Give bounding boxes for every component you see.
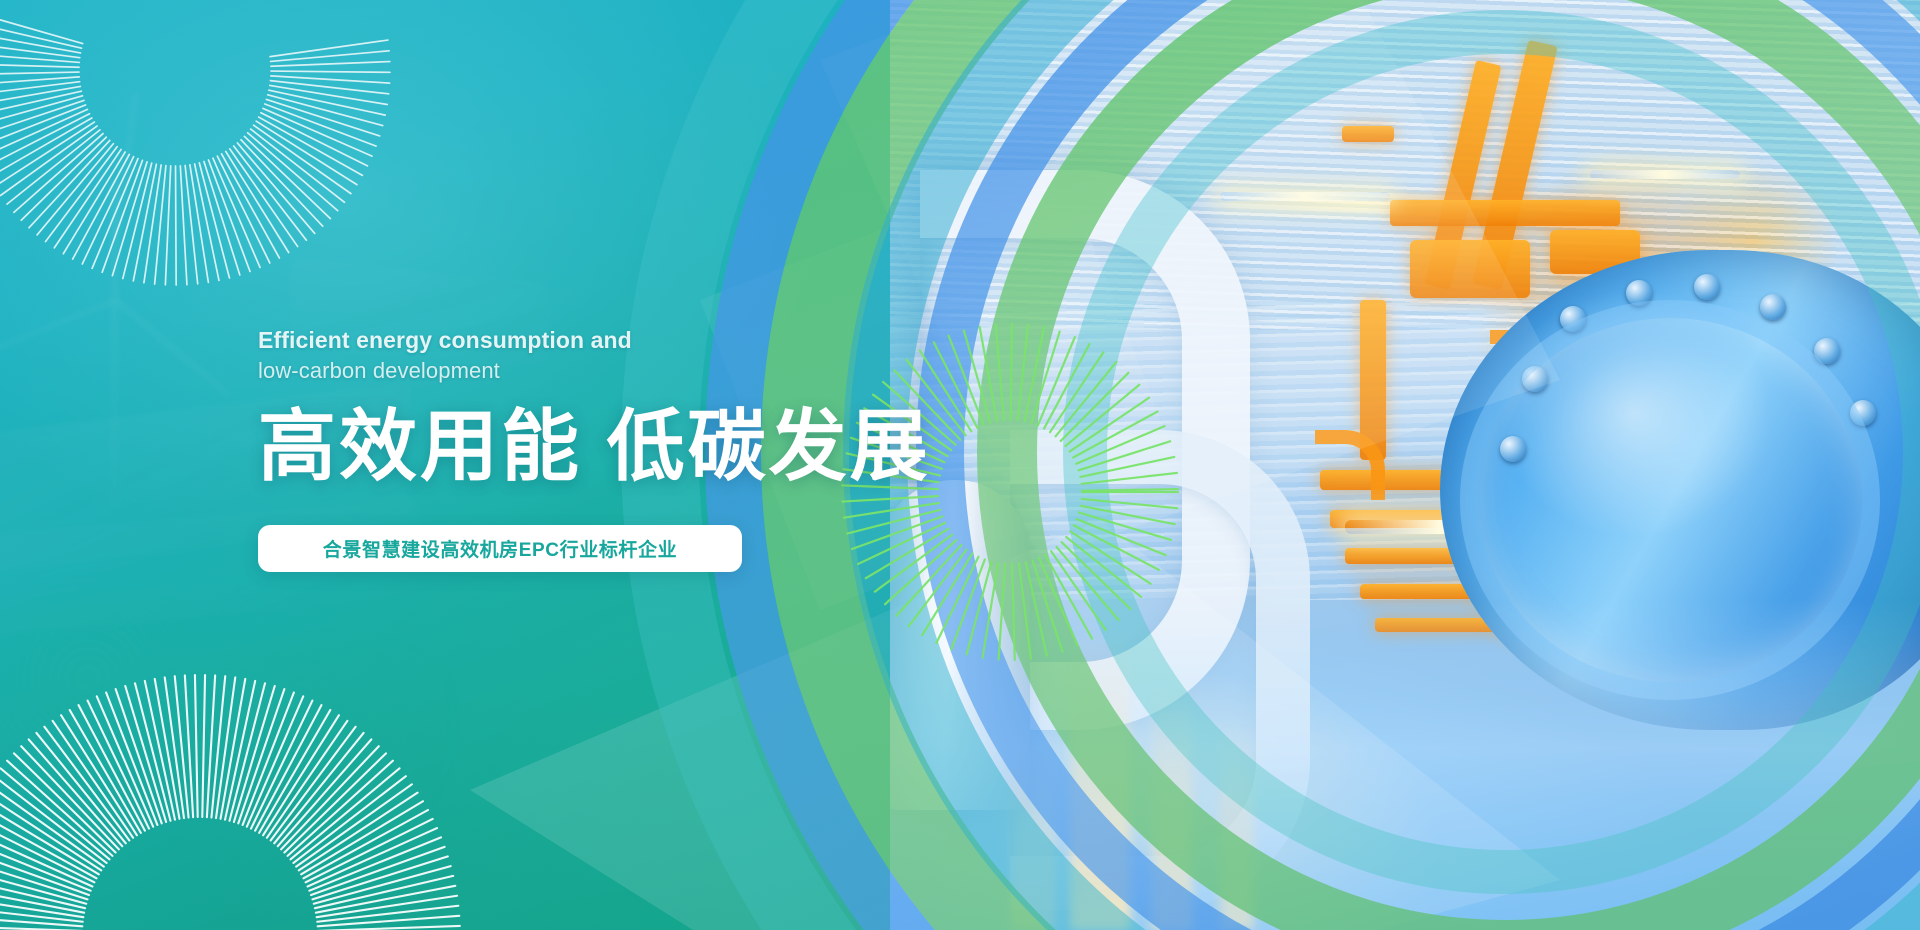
hero-eyebrow: Efficient energy consumption and low-car… (258, 326, 1158, 386)
hero-copy: Efficient energy consumption and low-car… (258, 326, 1158, 492)
hero-eyebrow-line2: low-carbon development (258, 355, 1158, 386)
hero-eyebrow-line1: Efficient energy consumption and (258, 327, 632, 353)
hero-headline: 高效用能 低碳发展 (258, 400, 1158, 492)
hero-tagline-label: 合景智慧建设高效机房EPC行业标杆企业 (323, 535, 677, 562)
hero-banner: Efficient energy consumption and low-car… (0, 0, 1920, 930)
hero-tagline-pill[interactable]: 合景智慧建设高效机房EPC行业标杆企业 (258, 525, 742, 572)
